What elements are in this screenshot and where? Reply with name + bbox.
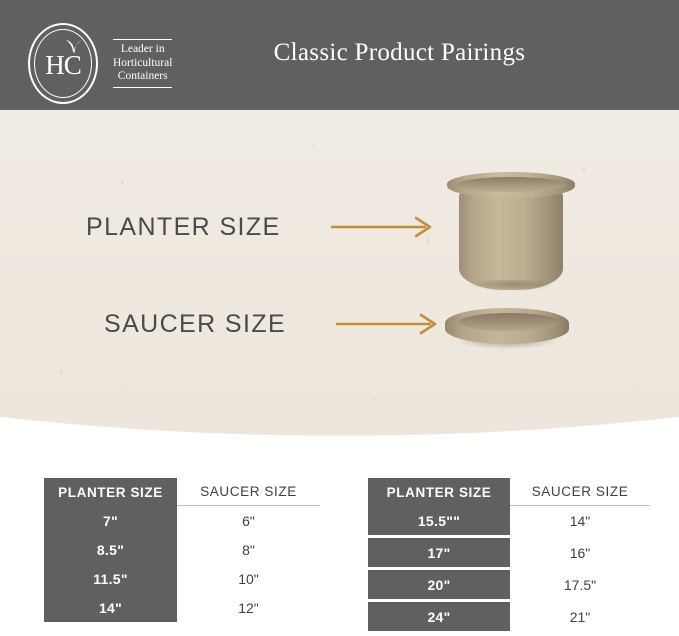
cell-saucer-size: 17.5": [510, 570, 650, 599]
logo-tagline-line-3: Containers: [113, 70, 172, 84]
size-table-small: PLANTER SIZE SAUCER SIZE 7" 6" 8.5" 8" 1…: [44, 478, 320, 622]
planter-product-image: [447, 172, 575, 290]
cell-planter-size: 8.5": [44, 535, 177, 564]
table-row: 11.5" 10": [44, 564, 320, 593]
table-body: 15.5"" 14" 17" 16" 20" 17.5" 24" 21": [368, 506, 650, 631]
table-row: 14" 12": [44, 593, 320, 622]
cell-saucer-size: 12": [177, 593, 320, 622]
panel-texture-background: [0, 110, 679, 438]
saucer-product-image: [443, 306, 571, 354]
diagram-panel: [0, 110, 679, 438]
table-header-row: PLANTER SIZE SAUCER SIZE: [368, 478, 650, 506]
table-body: 7" 6" 8.5" 8" 11.5" 10" 14" 12": [44, 506, 320, 622]
planter-arrow-icon: [330, 216, 438, 238]
table-row: 7" 6": [44, 506, 320, 535]
cell-saucer-size: 10": [177, 564, 320, 593]
cell-planter-size: 14": [44, 593, 177, 622]
saucer-body: [445, 308, 569, 344]
planter-body: [459, 192, 563, 290]
table-header-row: PLANTER SIZE SAUCER SIZE: [44, 478, 320, 506]
table-row: 24" 21": [368, 602, 650, 631]
column-header-planter-size: PLANTER SIZE: [44, 478, 177, 506]
column-header-planter-size: PLANTER SIZE: [368, 478, 510, 506]
table-row: 8.5" 8": [44, 535, 320, 564]
cell-planter-size: 7": [44, 506, 177, 535]
cell-saucer-size: 14": [510, 506, 650, 535]
planter-rim-opening: [457, 177, 565, 192]
leaf-icon: [63, 38, 85, 54]
cell-saucer-size: 21": [510, 602, 650, 631]
table-row: 15.5"" 14": [368, 506, 650, 535]
saucer-size-callout-label: SAUCER SIZE: [104, 310, 286, 339]
table-row: 17" 16": [368, 538, 650, 567]
size-chart-tables: PLANTER SIZE SAUCER SIZE 7" 6" 8.5" 8" 1…: [0, 478, 679, 636]
logo-tagline-rule-bottom: [113, 87, 172, 88]
column-header-saucer-size: SAUCER SIZE: [177, 478, 320, 506]
cell-saucer-size: 6": [177, 506, 320, 535]
cell-saucer-size: 16": [510, 538, 650, 567]
cell-planter-size: 20": [368, 570, 510, 599]
column-header-saucer-size: SAUCER SIZE: [510, 478, 650, 506]
cell-planter-size: 24": [368, 602, 510, 631]
cell-planter-size: 15.5"": [368, 506, 510, 535]
size-table-large: PLANTER SIZE SAUCER SIZE 15.5"" 14" 17" …: [368, 478, 650, 634]
product-pairings-infographic: HC Leader in Horticultural Containers Cl…: [0, 0, 679, 636]
cell-planter-size: 17": [368, 538, 510, 567]
table-row: 20" 17.5": [368, 570, 650, 599]
page-title: Classic Product Pairings: [0, 39, 679, 67]
planter-rim: [447, 172, 575, 198]
planter-base-shadow: [469, 280, 553, 291]
saucer-arrow-icon: [335, 313, 443, 335]
cell-saucer-size: 8": [177, 535, 320, 564]
header-bar: HC Leader in Horticultural Containers Cl…: [0, 0, 679, 110]
cell-planter-size: 11.5": [44, 564, 177, 593]
saucer-well: [459, 313, 559, 331]
planter-size-callout-label: PLANTER SIZE: [86, 213, 281, 242]
